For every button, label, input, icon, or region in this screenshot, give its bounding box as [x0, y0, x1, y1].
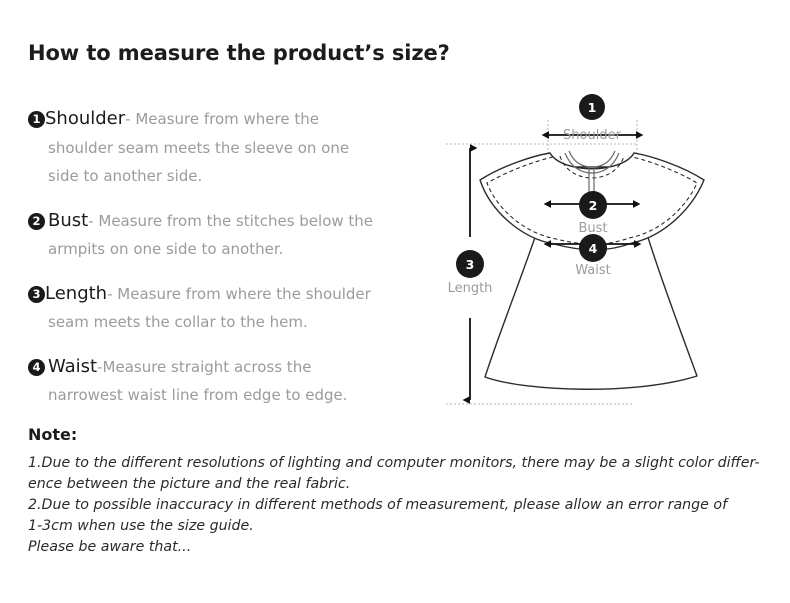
dress-diagram: 1 Shoulder 2 Bust 4 Waist 3 Length	[432, 92, 784, 414]
number-badge-4: 4	[28, 359, 45, 376]
list-item: 3Length- Measure from where the shoulder…	[28, 280, 428, 337]
measurement-description-cont: side to another side.	[28, 162, 428, 191]
note-section: Note: 1.Due to the different resolutions…	[28, 425, 770, 558]
note-line: ence between the picture and the real fa…	[28, 474, 770, 495]
size-guide-page: How to measure the product’s size? 1Shou…	[0, 0, 790, 603]
note-line: 1.Due to the different resolutions of li…	[28, 453, 770, 474]
callout-label-shoulder: Shoulder	[563, 128, 622, 143]
callout-label-waist: Waist	[575, 263, 610, 278]
measurement-list: 1Shoulder- Measure from where the should…	[28, 105, 428, 426]
measurement-description: -Measure straight across the	[97, 358, 311, 376]
measurement-description: - Measure from where the	[125, 110, 319, 128]
page-title: How to measure the product’s size?	[28, 41, 450, 65]
note-line: Please be aware that...	[28, 537, 770, 558]
measurement-description-cont: armpits on one side to another.	[28, 235, 428, 264]
note-heading: Note:	[28, 425, 770, 444]
measurement-description-cont: seam meets the collar to the hem.	[28, 308, 428, 337]
measurement-description: - Measure from the stitches below the	[88, 212, 373, 230]
list-item: 1Shoulder- Measure from where the should…	[28, 105, 428, 191]
note-line: 2.Due to possible inaccuracy in differen…	[28, 495, 770, 516]
number-badge-2: 2	[28, 213, 45, 230]
callout-label-length: Length	[448, 281, 493, 296]
list-item: 4Waist-Measure straight across the narro…	[28, 353, 428, 410]
callout-number-2: 2	[589, 198, 598, 213]
measurement-description-cont: narrowest waist line from edge to edge.	[28, 381, 428, 410]
measurement-term: Waist	[48, 356, 97, 377]
measurement-term: Shoulder	[45, 108, 125, 129]
number-badge-1: 1	[28, 111, 45, 128]
callout-number-1: 1	[588, 100, 597, 115]
note-line: 1-3cm when use the size guide.	[28, 516, 770, 537]
number-badge-3: 3	[28, 286, 45, 303]
callout-number-3: 3	[466, 257, 475, 272]
measurement-term: Bust	[48, 210, 88, 231]
callout-label-bust: Bust	[578, 221, 607, 236]
measurement-description-cont: shoulder seam meets the sleeve on one	[28, 134, 428, 163]
callout-number-4: 4	[589, 241, 598, 256]
measurement-term: Length	[45, 283, 107, 304]
measurement-description: - Measure from where the shoulder	[107, 285, 371, 303]
list-item: 2Bust- Measure from the stitches below t…	[28, 207, 428, 264]
